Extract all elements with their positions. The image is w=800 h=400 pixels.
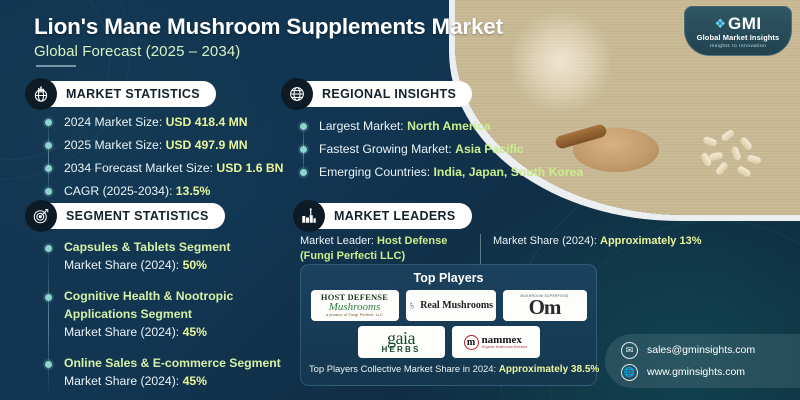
logo-text: gaia bbox=[381, 330, 420, 346]
logo-text: Mushrooms bbox=[321, 302, 388, 313]
gmi-logo: ❖ GMI Global Market Insights Insights to… bbox=[684, 6, 792, 56]
globe-icon: 🌐 bbox=[621, 364, 638, 381]
section-header-segment-statistics: SEGMENT STATISTICS bbox=[28, 203, 225, 229]
list-item: 2025 Market Size: USD 497.9 MN bbox=[48, 135, 283, 155]
row-label: 2034 Forecast Market Size: bbox=[64, 161, 213, 175]
contact-bar: ✉ sales@gminsights.com 🌐 www.gminsights.… bbox=[605, 334, 800, 388]
row-value: 45% bbox=[183, 325, 207, 339]
footer-value: Approximately 38.5% bbox=[499, 364, 600, 375]
globe-chart-icon bbox=[25, 78, 57, 110]
row-label: 2025 Market Size: bbox=[64, 138, 162, 152]
leader-share-label: Market Share (2024): bbox=[493, 235, 597, 247]
row-value: USD 1.6 BN bbox=[216, 161, 283, 175]
bullet-dot bbox=[45, 294, 52, 301]
list-item: Emerging Countries: India, Japan, South … bbox=[303, 162, 583, 182]
gmi-diamond-icon: ❖ bbox=[714, 17, 726, 30]
leader-label: Market Leader: bbox=[300, 235, 374, 247]
row-value: 13.5% bbox=[176, 184, 211, 198]
top-players-footer: Top Players Collective Market Share in 2… bbox=[309, 363, 588, 375]
contact-website-row[interactable]: 🌐 www.gminsights.com bbox=[621, 364, 800, 381]
list-item: CAGR (2025-2034): 13.5% bbox=[48, 181, 283, 201]
list-item: 2024 Market Size: USD 418.4 MN bbox=[48, 112, 283, 132]
envelope-icon: ✉ bbox=[621, 342, 638, 359]
row-label: Largest Market: bbox=[319, 119, 404, 133]
row-label: Market Share (2024): bbox=[64, 374, 179, 388]
row-value: North America bbox=[407, 119, 491, 133]
segment-name: Capsules & Tablets Segment bbox=[64, 238, 298, 256]
footer-label: Top Players Collective Market Share in 2… bbox=[309, 363, 496, 374]
top-players-logo-row-1: HOST DEFENSE Mushrooms a product of Fung… bbox=[309, 290, 588, 321]
contact-website[interactable]: www.gminsights.com bbox=[647, 366, 745, 378]
top-players-card: Top Players HOST DEFENSE Mushrooms a pro… bbox=[300, 264, 597, 386]
section-header-market-leaders: MARKET LEADERS bbox=[296, 203, 472, 229]
row-label: 2024 Market Size: bbox=[64, 115, 162, 129]
nammex-mark-icon: m bbox=[464, 335, 479, 350]
logo-text: Organic Mushroom Extracts bbox=[482, 346, 528, 349]
row-label: CAGR (2025-2034): bbox=[64, 184, 172, 198]
page-subtitle: Global Forecast (2025 – 2034) bbox=[34, 43, 240, 60]
section-header-regional-insights: REGIONAL INSIGHTS bbox=[284, 81, 472, 107]
mushroom-icon: ♄ bbox=[408, 300, 416, 312]
logo-gaia-herbs: gaia HERBS bbox=[358, 326, 445, 358]
leader-share-value: Approximately 13% bbox=[600, 235, 701, 247]
logo-text: Om bbox=[520, 298, 568, 316]
bullet-dot bbox=[45, 361, 52, 368]
title-divider bbox=[36, 65, 76, 67]
leader-name-line2: (Fungi Perfecti LLC) bbox=[300, 250, 405, 262]
regional-insights-list: Largest Market: North America Fastest Gr… bbox=[303, 116, 583, 185]
list-item: Capsules & Tablets Segment Market Share … bbox=[48, 238, 298, 275]
segment-name-line1: Cognitive Health & Nootropic bbox=[64, 287, 298, 305]
gmi-wordmark: GMI bbox=[728, 15, 762, 32]
top-players-logo-row-2: gaia HERBS m nammex Organic Mushroom Ext… bbox=[309, 326, 588, 358]
row-value: USD 418.4 MN bbox=[166, 115, 248, 129]
logo-text: a product of Fungi Perfecti, LLC bbox=[321, 314, 388, 318]
bullet-dot bbox=[300, 169, 307, 176]
list-item: Online Sales & E-commerce Segment Market… bbox=[48, 354, 298, 391]
market-statistics-list: 2024 Market Size: USD 418.4 MN 2025 Mark… bbox=[48, 112, 283, 204]
section-title: SEGMENT STATISTICS bbox=[66, 209, 209, 223]
row-value: India, Japan, South Korea bbox=[433, 165, 583, 179]
logo-nammex: m nammex Organic Mushroom Extracts bbox=[452, 326, 540, 358]
factory-icon bbox=[293, 200, 325, 232]
bullet-dot bbox=[45, 188, 52, 195]
logo-host-defense: HOST DEFENSE Mushrooms a product of Fung… bbox=[311, 290, 399, 321]
bullet-dot bbox=[45, 142, 52, 149]
bullet-dot bbox=[45, 245, 52, 252]
section-title: MARKET LEADERS bbox=[334, 209, 456, 223]
list-item: Fastest Growing Market: Asia Pacific bbox=[303, 139, 583, 159]
top-players-title: Top Players bbox=[309, 271, 588, 285]
vertical-divider bbox=[480, 234, 481, 264]
row-value: 45% bbox=[183, 374, 207, 388]
segment-name: Online Sales & E-commerce Segment bbox=[64, 354, 298, 372]
row-label: Fastest Growing Market: bbox=[319, 142, 452, 156]
row-label: Market Share (2024): bbox=[64, 325, 179, 339]
logo-real-mushrooms: ♄ Real Mushrooms bbox=[406, 290, 496, 321]
row-label: Market Share (2024): bbox=[64, 258, 179, 272]
section-title: MARKET STATISTICS bbox=[66, 87, 200, 101]
bullet-dot bbox=[45, 165, 52, 172]
row-value: USD 497.9 MN bbox=[166, 138, 248, 152]
contact-email-row[interactable]: ✉ sales@gminsights.com bbox=[621, 342, 800, 359]
logo-om-mushroom-superfood: MUSHROOM SUPERFOOD Om bbox=[503, 290, 587, 321]
gmi-full-name: Global Market Insights bbox=[697, 33, 780, 42]
list-item: Largest Market: North America bbox=[303, 116, 583, 136]
bullet-dot bbox=[300, 146, 307, 153]
segment-name-line2: Applications Segment bbox=[64, 305, 298, 323]
gmi-tagline: Insights to Innovation bbox=[710, 43, 767, 48]
contact-email[interactable]: sales@gminsights.com bbox=[647, 344, 755, 356]
leader-name-line1: Host Defense bbox=[377, 235, 447, 247]
list-item: 2034 Forecast Market Size: USD 1.6 BN bbox=[48, 158, 283, 178]
list-item: Cognitive Health & Nootropic Application… bbox=[48, 287, 298, 342]
row-label: Emerging Countries: bbox=[319, 165, 430, 179]
segment-statistics-list: Capsules & Tablets Segment Market Share … bbox=[48, 238, 298, 400]
row-value: 50% bbox=[183, 258, 207, 272]
logo-text: HERBS bbox=[381, 346, 420, 354]
logo-text: Real Mushrooms bbox=[420, 300, 493, 311]
row-value: Asia Pacific bbox=[455, 142, 523, 156]
section-header-market-statistics: MARKET STATISTICS bbox=[28, 81, 216, 107]
target-icon bbox=[25, 200, 57, 232]
section-title: REGIONAL INSIGHTS bbox=[322, 87, 456, 101]
market-leader-row: Market Leader: Host Defense (Fungi Perfe… bbox=[300, 234, 701, 264]
infographic-canvas: ❖ GMI Global Market Insights Insights to… bbox=[0, 0, 800, 400]
bullet-dot bbox=[45, 119, 52, 126]
globe-icon bbox=[281, 78, 313, 110]
bullet-dot bbox=[300, 123, 307, 130]
page-title: Lion's Mane Mushroom Supplements Market bbox=[34, 14, 503, 40]
